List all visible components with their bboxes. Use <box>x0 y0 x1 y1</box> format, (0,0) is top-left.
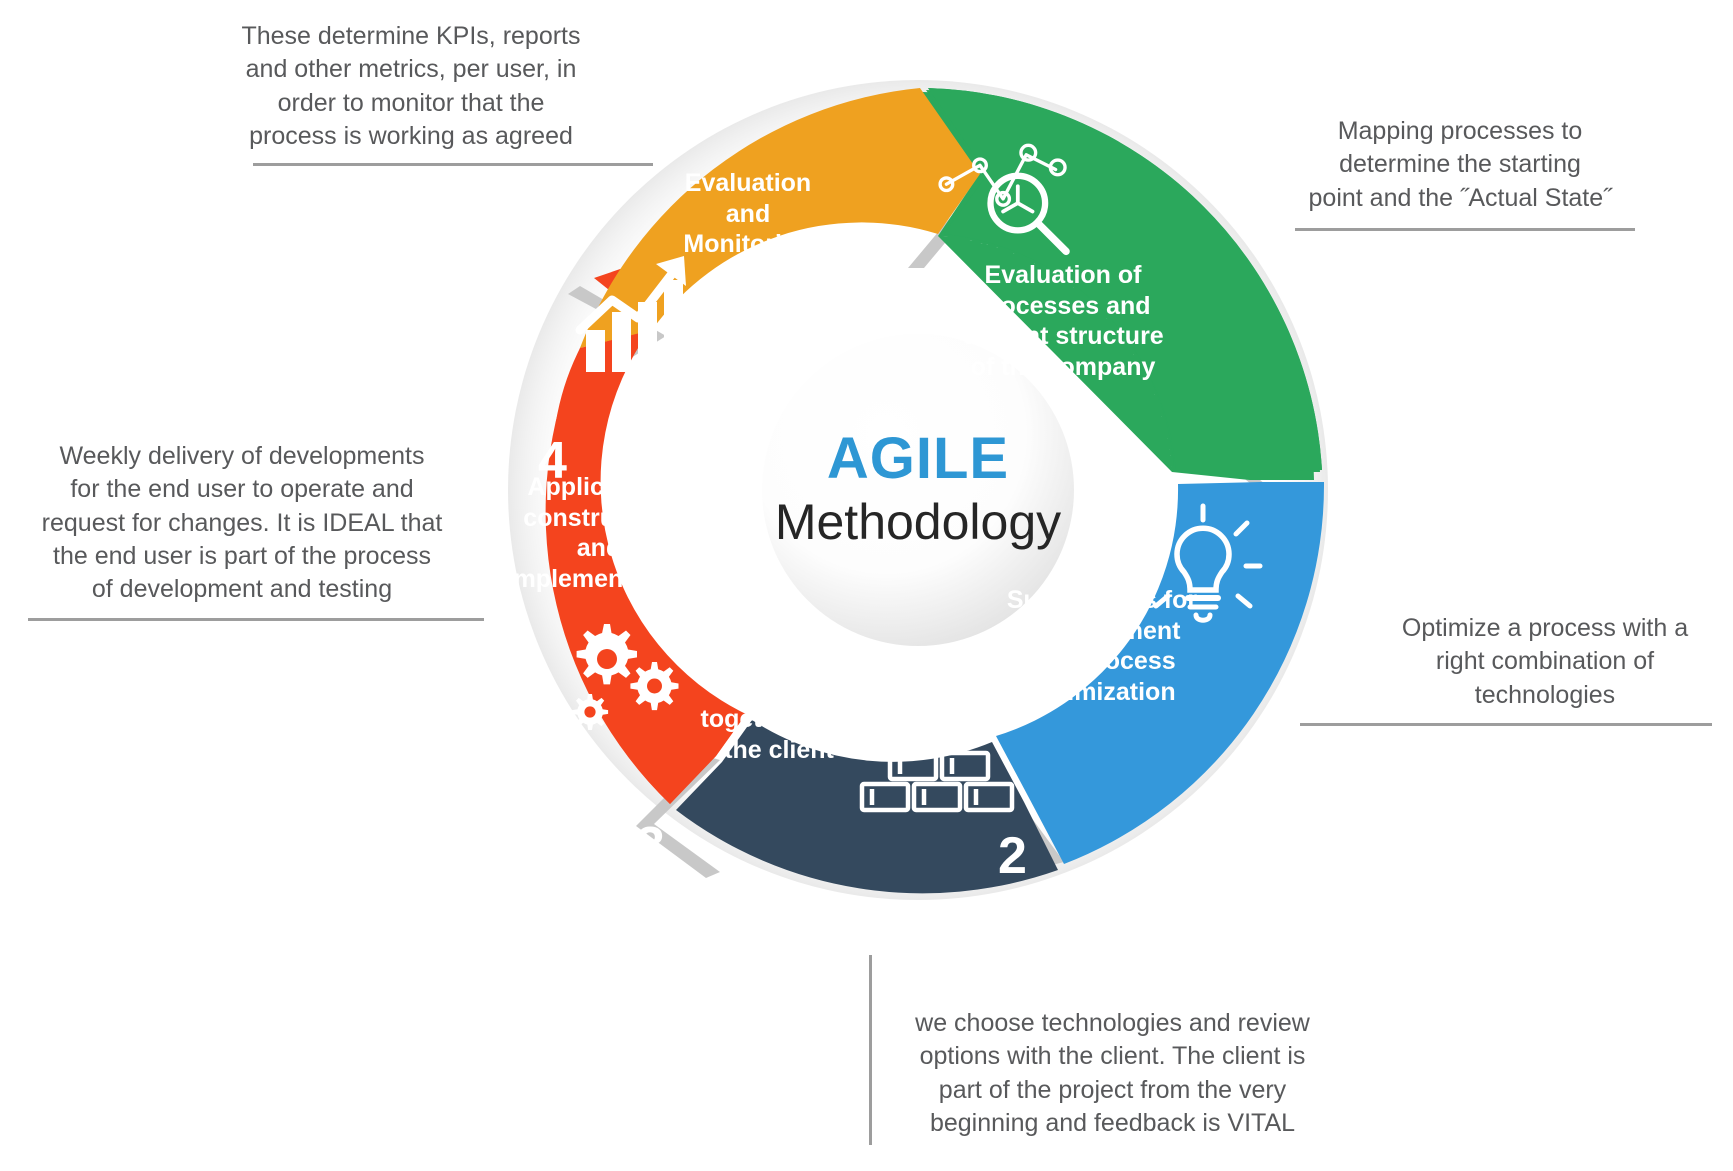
annotation-line: Weekly delivery of developments <box>22 440 462 473</box>
cycle-wheel: AGILE Methodology 1 2 3 4 5 Evaluation o… <box>508 80 1328 900</box>
annotation-top-right-connector <box>1295 228 1635 231</box>
annotation-line: part of the project from the very <box>880 1074 1345 1107</box>
annotation-left: Weekly delivery of developments for the … <box>22 440 462 606</box>
annotation-line: right combination of <box>1380 645 1710 678</box>
annotation-line: technologies <box>1380 679 1710 712</box>
wheel-hub <box>762 334 1074 646</box>
annotation-line: Optimize a process with a <box>1380 612 1710 645</box>
annotation-line: These determine KPIs, reports <box>216 20 606 53</box>
annotation-line: point and the ˝Actual State˝ <box>1300 182 1620 215</box>
annotation-bottom-connector <box>869 955 872 1145</box>
annotation-line: of development and testing <box>22 573 462 606</box>
annotation-left-connector <box>28 618 484 621</box>
annotation-line: request for changes. It is IDEAL that <box>22 507 462 540</box>
annotation-right: Optimize a process with a right combinat… <box>1380 612 1710 712</box>
annotation-top-right: Mapping processes to determine the start… <box>1300 115 1620 215</box>
annotation-bottom: we choose technologies and review option… <box>880 1007 1345 1140</box>
annotation-line: the end user is part of the process <box>22 540 462 573</box>
agile-methodology-diagram: These determine KPIs, reports and other … <box>0 0 1733 1171</box>
annotation-line: determine the starting <box>1300 148 1620 181</box>
annotation-line: we choose technologies and review <box>880 1007 1345 1040</box>
annotation-line: options with the client. The client is <box>880 1040 1345 1073</box>
annotation-right-connector <box>1300 723 1712 726</box>
annotation-line: Mapping processes to <box>1300 115 1620 148</box>
annotation-line: beginning and feedback is VITAL <box>880 1107 1345 1140</box>
annotation-line: for the end user to operate and <box>22 473 462 506</box>
wheel-svg <box>508 80 1328 900</box>
